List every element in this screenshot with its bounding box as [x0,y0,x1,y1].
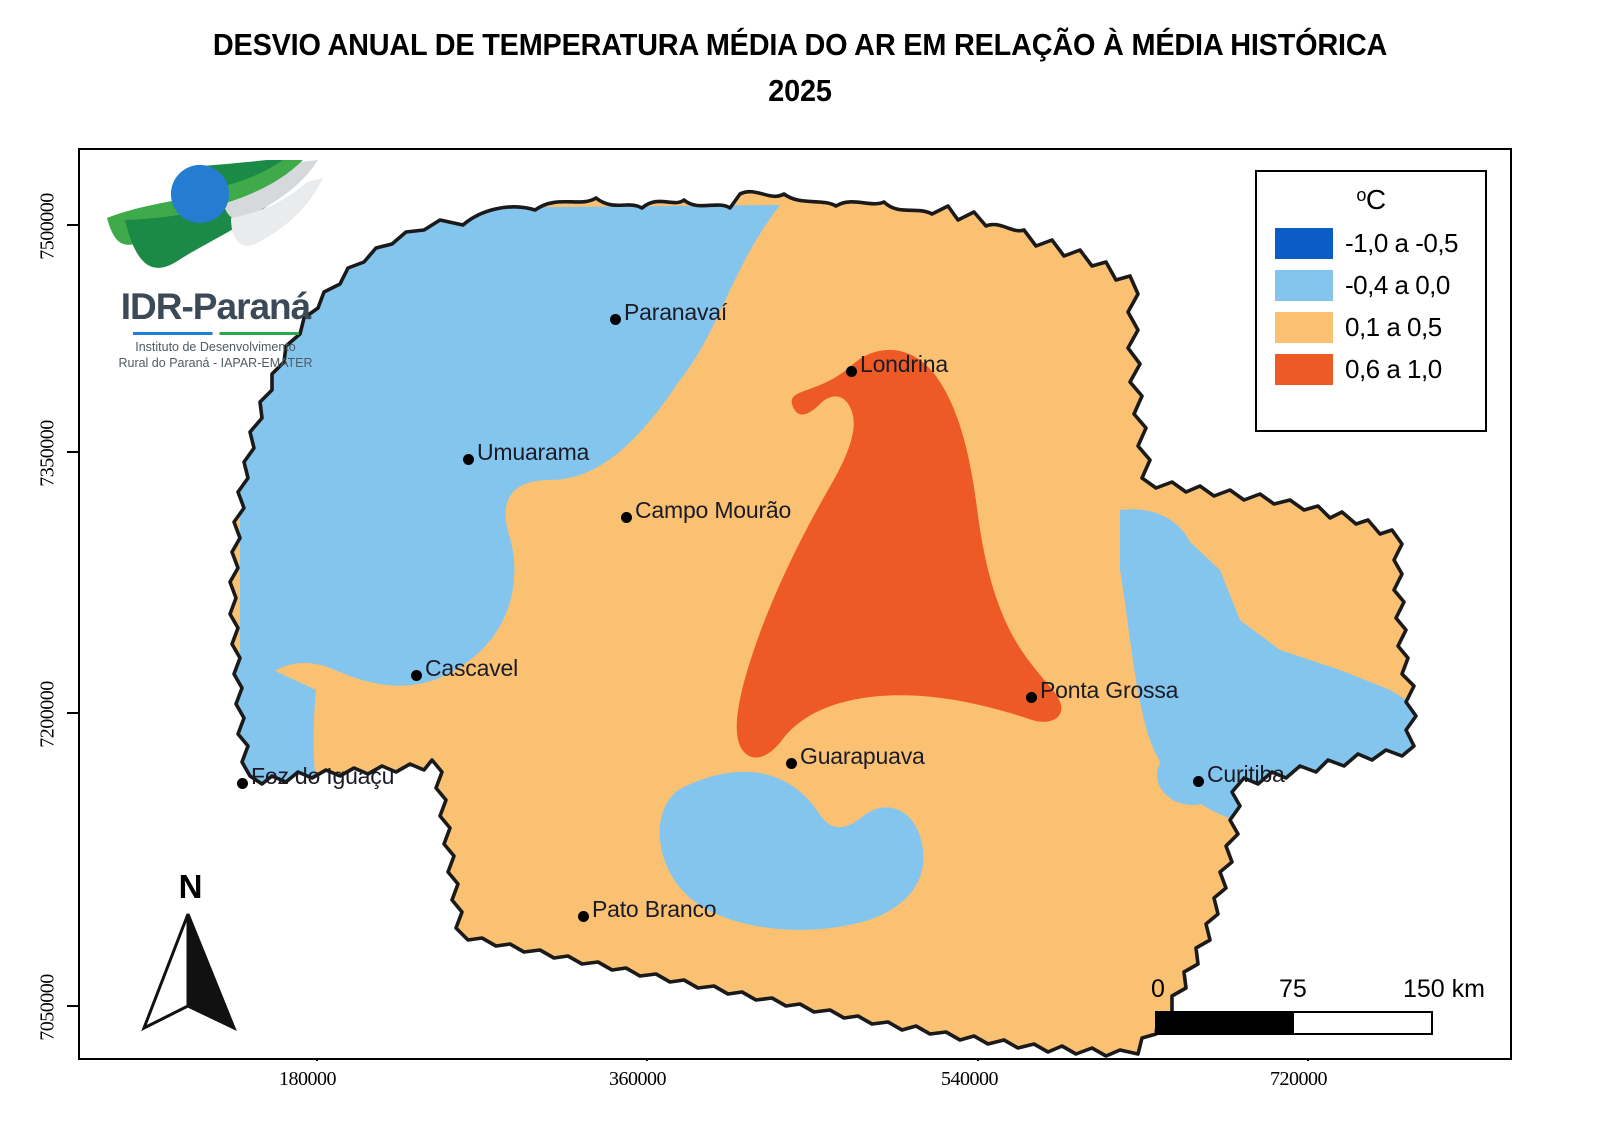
y-axis-label-7050000: 7050000 [37,948,60,1068]
scale-tick-0: 0 [1151,975,1165,1004]
scale-bar-graphic [1155,1011,1433,1035]
legend-item-0p1-0p5[interactable]: 0,1 a 0,5 [1257,306,1485,348]
scale-bar-segment-empty [1294,1013,1431,1033]
title-line-2: 2025 [56,68,1544,114]
legend-swatch [1275,228,1333,259]
class-area-minus1p0-minus0p5-foz [224,789,268,863]
legend-swatch [1275,312,1333,343]
x-axis-label-360000: 360000 [609,1068,666,1091]
north-arrow-label: N [88,868,293,906]
legend-item-minus0p4-0p0[interactable]: -0,4 a 0,0 [1257,264,1485,306]
legend-item-label: -0,4 a 0,0 [1345,270,1450,301]
legend-item-minus1p0-minus0p5[interactable]: -1,0 a -0,5 [1257,222,1485,264]
x-axis-label-720000: 720000 [1270,1068,1327,1091]
y-tick-mark [67,712,78,714]
north-arrow: N [88,868,293,1043]
legend-item-0p6-1p0[interactable]: 0,6 a 1,0 [1257,348,1485,390]
scale-tick-75: 75 [1279,975,1307,1004]
legend-degree-symbol: o [1356,185,1366,205]
legend-item-label: 0,6 a 1,0 [1345,354,1442,385]
y-axis-label-7350000: 7350000 [37,394,60,514]
x-axis-label-540000: 540000 [941,1068,998,1091]
scale-bar: 0 75 150 km [1155,975,1433,1041]
legend-item-label: 0,1 a 0,5 [1345,312,1442,343]
legend[interactable]: oC -1,0 a -0,5 -0,4 a 0,0 0,1 a 0,5 0,6 … [1255,170,1487,432]
y-tick-mark [67,224,78,226]
y-tick-mark [67,1005,78,1007]
class-area-minus0p4-0p0-curitiba-patch [1157,745,1229,805]
title-line-1: DESVIO ANUAL DE TEMPERATURA MÉDIA DO AR … [213,27,1387,62]
legend-swatch [1275,270,1333,301]
y-axis-label-7500000: 7500000 [37,167,60,287]
legend-swatch [1275,354,1333,385]
legend-unit-title: oC [1257,184,1485,216]
scale-tick-150: 150 km [1403,975,1485,1004]
scale-bar-labels: 0 75 150 km [1155,975,1433,1005]
page-title: DESVIO ANUAL DE TEMPERATURA MÉDIA DO AR … [56,22,1544,114]
north-arrow-icon [88,910,293,1040]
legend-item-label: -1,0 a -0,5 [1345,228,1458,259]
y-axis-label-7200000: 7200000 [37,655,60,775]
legend-unit-letter: C [1366,184,1386,215]
scale-bar-segment-filled [1157,1013,1294,1033]
x-axis-label-180000: 180000 [279,1068,336,1091]
y-tick-mark [67,451,78,453]
